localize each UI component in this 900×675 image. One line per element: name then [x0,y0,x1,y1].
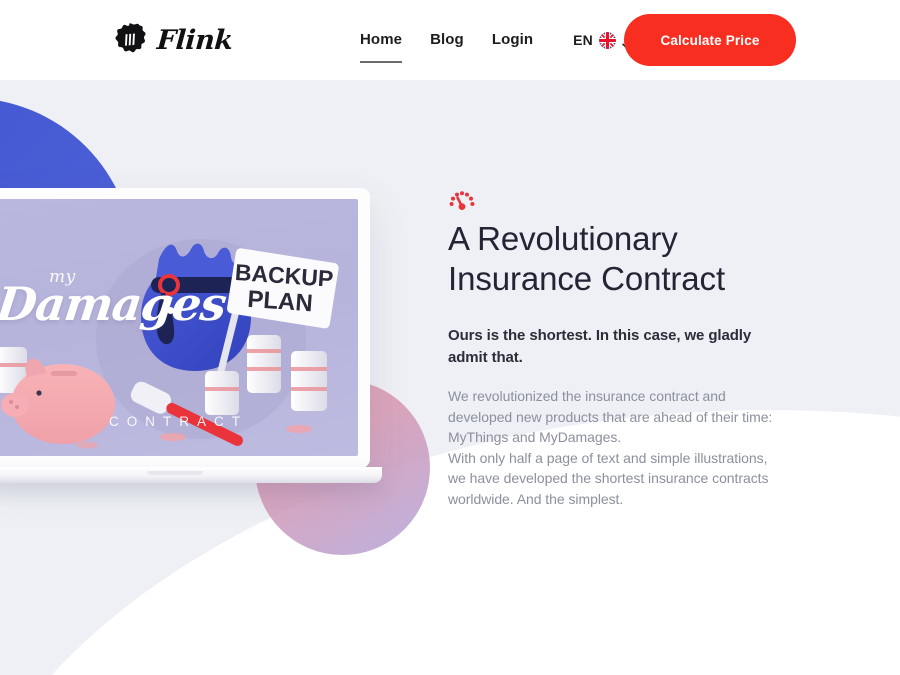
hero-paragraph-2: With only half a page of text and simple… [448,448,788,509]
hero-subheading: Ours is the shortest. In this case, we g… [448,325,788,369]
nav-item-blog[interactable]: Blog [430,31,464,50]
speedometer-icon [448,201,476,218]
brand-logo[interactable]: Flink [112,22,233,58]
language-code: EN [573,32,593,48]
uk-flag-icon [599,32,616,49]
landing-page: Flink Home Blog Login EN [0,0,900,675]
laptop-notch [147,471,203,475]
screen-dot [167,307,174,314]
ink-blot-logo-icon [112,22,148,58]
hero-section: BACKUP PLAN [0,80,900,675]
main-nav: Home Blog Login EN [360,0,633,80]
site-header: Flink Home Blog Login EN [0,0,900,80]
svg-text:PLAN: PLAN [247,286,314,317]
hero-paragraph-1: We revolutionized the insurance contract… [448,386,788,447]
laptop-lid: BACKUP PLAN [0,188,370,468]
hero-content: A Revolutionary Insurance Contract Ours … [448,188,788,509]
hero-body-copy: We revolutionized the insurance contract… [448,386,788,509]
headline-line-1: A Revolutionary [448,220,678,257]
page-title: A Revolutionary Insurance Contract [448,219,788,299]
nav-item-login[interactable]: Login [492,31,533,50]
screen-word-damages: Damages [0,277,229,331]
nav-item-home[interactable]: Home [360,31,402,50]
screen-footer-label: CONTRACT [0,414,358,429]
headline-line-2: Insurance Contract [448,260,725,297]
laptop-screen: BACKUP PLAN [0,199,358,456]
brand-name: Flink [156,27,233,54]
calculate-price-button[interactable]: Calculate Price [624,14,796,66]
laptop-base [0,467,382,483]
laptop-illustration: BACKUP PLAN [0,188,370,488]
